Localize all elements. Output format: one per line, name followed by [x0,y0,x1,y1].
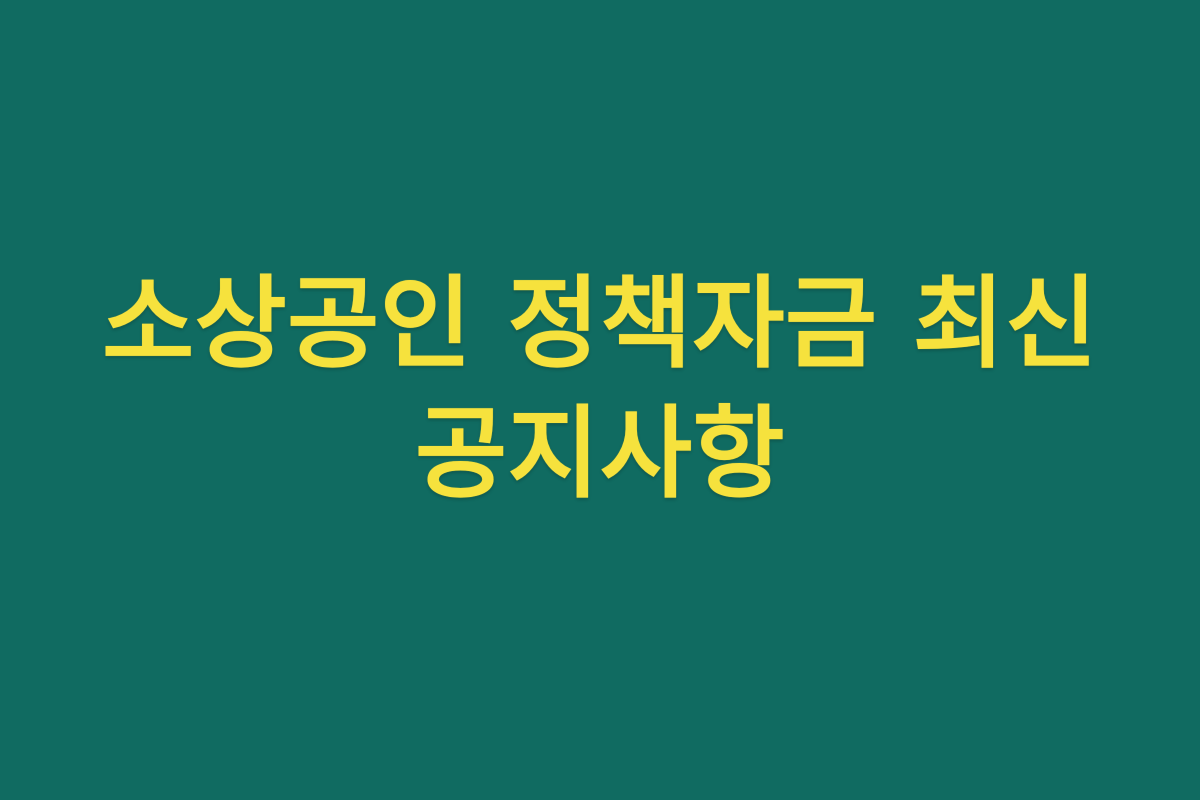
headline-line-2: 공지사항 [40,389,1160,519]
headline-line-1: 소상공인 정책자금 최신 [40,259,1160,389]
banner-canvas: 소상공인 정책자금 최신 공지사항 [0,0,1200,800]
headline-text-block: 소상공인 정책자금 최신 공지사항 [40,259,1160,519]
